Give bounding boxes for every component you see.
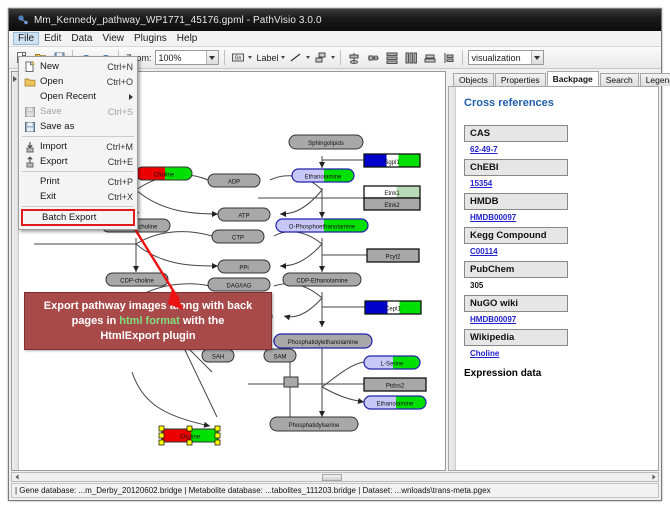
xref-label-chebi: ChEBI (464, 159, 568, 176)
screenshot-root: Mm_Kennedy_pathway_WP1771_45176.gpml - P… (0, 0, 670, 509)
file-menu-accel-open: Ctrl+O (107, 77, 133, 87)
blank-icon-batch (25, 211, 38, 224)
xref-value-chebi: 15354 (464, 176, 650, 188)
order-icon[interactable] (441, 50, 457, 66)
scrollbar-thumb[interactable] (322, 474, 342, 481)
chevron-down-icon[interactable] (206, 51, 218, 64)
file-menu-item-save: Save Ctrl+S (19, 104, 137, 119)
xref-label-pubchem: PubChem (464, 261, 568, 278)
menu-data[interactable]: Data (66, 32, 97, 45)
chevron-right-icon (129, 94, 133, 100)
xref-label-hmdb: HMDB (464, 193, 568, 210)
pathvisio-icon (16, 14, 29, 27)
expression-data-title: Expression data (464, 368, 650, 379)
label-tool[interactable]: Label (255, 53, 285, 63)
xref-value-pubchem: 305 (464, 278, 650, 290)
svg-text:Choline: Choline (180, 435, 201, 441)
annotation-callout: Export pathway images along with back pa… (24, 292, 272, 350)
stack-icon[interactable] (422, 50, 438, 66)
backpage-content: Cross references CAS 62-49-7 ChEBI 15354… (456, 87, 658, 470)
blank-icon-exit (23, 190, 36, 203)
statusbar-wrap: | Gene database: ...m_Derby_20120602.bri… (9, 471, 661, 500)
xref-label-cas: CAS (464, 125, 568, 142)
svg-text:Sphingolipids: Sphingolipids (308, 141, 344, 147)
svg-text:CDP-Ethanolamine: CDP-Ethanolamine (296, 279, 348, 285)
distribute-horizontal-icon[interactable] (403, 50, 419, 66)
blank-icon (23, 90, 36, 103)
file-menu-accel-exit: Ctrl+X (108, 192, 133, 202)
visualization-combo[interactable]: visualization (468, 50, 544, 65)
svg-text:L-Serine: L-Serine (381, 362, 404, 368)
svg-text:PPi: PPi (239, 266, 248, 272)
cross-references-title: Cross references (464, 97, 650, 109)
gpml-icon[interactable]: Gn (230, 50, 246, 66)
svg-text:Etnk2: Etnk2 (384, 203, 400, 209)
file-menu-accel-print: Ctrl+P (108, 177, 133, 187)
menu-help[interactable]: Help (172, 32, 203, 45)
file-menu-label-save-as: Save as (40, 121, 127, 132)
callout-line-2: pages in html format with the (72, 314, 225, 329)
chevron-down-icon-visualization[interactable] (531, 51, 543, 64)
file-menu-label-exit: Exit (40, 191, 102, 202)
xref-label-nugo: NuGO wiki (464, 295, 568, 312)
file-menu-label-open-recent: Open Recent (40, 91, 125, 102)
menu-file[interactable]: File (13, 32, 39, 45)
xref-link-wikipedia[interactable]: Choline (470, 349, 499, 358)
file-menu-item-new[interactable]: New Ctrl+N (19, 59, 137, 74)
tab-properties[interactable]: Properties (495, 73, 546, 86)
file-menu-item-exit[interactable]: Exit Ctrl+X (19, 189, 137, 204)
svg-text:SAM: SAM (273, 355, 286, 361)
save-disk-icon (23, 105, 36, 118)
file-menu-item-export[interactable]: Export Ctrl+E (19, 154, 137, 169)
svg-text:CTP: CTP (232, 236, 244, 242)
file-menu-label-print: Print (40, 176, 102, 187)
toolbar-divider-5 (462, 50, 463, 65)
import-icon (23, 140, 36, 153)
zoom-combo[interactable]: 100% (155, 50, 219, 65)
xref-pubchem: PubChem 305 (464, 261, 650, 290)
file-menu-accel-import: Ctrl+M (106, 142, 133, 152)
callout-line-1: Export pathway images along with back (44, 299, 252, 314)
xref-link-nugo[interactable]: HMDB00097 (470, 315, 516, 324)
scroll-right-icon[interactable] (649, 473, 658, 481)
sidebar-tabstrip: Objects Properties Backpage Search Legen… (448, 71, 659, 86)
file-menu-label-save: Save (40, 106, 102, 117)
menu-bar: File Edit Data View Plugins Help (9, 31, 661, 47)
xref-wikipedia: Wikipedia Choline (464, 329, 650, 358)
file-menu-accel-save: Ctrl+S (108, 107, 133, 117)
chevron-down-icon-label[interactable] (281, 56, 285, 59)
blank-icon-print (23, 175, 36, 188)
pathvisio-window: Mm_Kennedy_pathway_WP1771_45176.gpml - P… (8, 8, 662, 501)
file-menu-item-batch-export[interactable]: Batch Export (21, 209, 135, 226)
line-icon[interactable] (288, 50, 304, 66)
open-folder-icon (23, 75, 36, 88)
svg-text:ATP: ATP (238, 214, 249, 220)
svg-text:CDP-choline: CDP-choline (120, 279, 154, 285)
svg-text:O-Phosphoethanolamine: O-Phosphoethanolamine (289, 225, 356, 231)
file-menu-label-batch-export: Batch Export (42, 212, 131, 223)
svg-text:SAH: SAH (212, 355, 224, 361)
xref-value-wikipedia: Choline (464, 346, 650, 358)
svg-text:Phosphatidylserine: Phosphatidylserine (289, 423, 340, 429)
backpage-panel: Cross references CAS 62-49-7 ChEBI 15354… (448, 86, 659, 471)
horizontal-scrollbar[interactable] (11, 472, 659, 482)
window-title: Mm_Kennedy_pathway_WP1771_45176.gpml - P… (34, 15, 322, 26)
file-menu-separator-3 (22, 206, 134, 207)
file-menu-label-open: Open (40, 76, 101, 87)
menu-edit[interactable]: Edit (39, 32, 66, 45)
tab-objects[interactable]: Objects (453, 73, 494, 86)
file-menu-separator-2 (22, 171, 134, 172)
file-menu-label-export: Export (40, 156, 102, 167)
gpml-tool[interactable]: Gn (230, 50, 252, 66)
file-menu-separator-1 (22, 136, 134, 137)
xref-nugo: NuGO wiki HMDB00097 (464, 295, 650, 324)
align-middle-icon[interactable] (365, 50, 381, 66)
menu-view[interactable]: View (97, 32, 129, 45)
distribute-vertical-icon[interactable] (384, 50, 400, 66)
svg-text:Choline: Choline (154, 173, 175, 179)
toolbar-divider-3 (224, 50, 225, 65)
file-menu-label-import: Import (40, 141, 100, 152)
toolbar-divider-4 (340, 50, 341, 65)
xref-value-hmdb: HMDB00097 (464, 210, 650, 222)
status-bar: | Gene database: ...m_Derby_20120602.bri… (11, 483, 659, 498)
svg-text:DAG/IAG: DAG/IAG (226, 284, 251, 290)
file-menu-item-print[interactable]: Print Ctrl+P (19, 174, 137, 189)
svg-text:Pcyt2: Pcyt2 (385, 255, 401, 261)
save-as-icon (23, 120, 36, 133)
xref-cas: CAS 62-49-7 (464, 125, 650, 154)
zoom-value: 100% (159, 53, 182, 63)
xref-hmdb: HMDB HMDB00097 (464, 193, 650, 222)
svg-text:Sgpl1: Sgpl1 (384, 160, 400, 166)
new-document-icon (23, 60, 36, 73)
file-menu-item-import[interactable]: Import Ctrl+M (19, 139, 137, 154)
file-menu-accel-export: Ctrl+E (108, 157, 133, 167)
sidebar-gutter (449, 87, 456, 470)
interaction-icon[interactable] (313, 50, 329, 66)
svg-text:Phosphatidylethanolamine: Phosphatidylethanolamine (288, 340, 359, 346)
export-icon (23, 155, 36, 168)
chevron-down-icon-line[interactable] (306, 56, 310, 59)
xref-link-cas[interactable]: 62-49-7 (470, 145, 498, 154)
svg-text:Ethanolamine: Ethanolamine (377, 402, 414, 408)
svg-text:Gn: Gn (234, 55, 241, 61)
xref-value-nugo: HMDB00097 (464, 312, 650, 324)
xref-link-hmdb[interactable]: HMDB00097 (470, 213, 516, 222)
chevron-down-icon-gpml[interactable] (248, 56, 252, 59)
svg-text:Cept1: Cept1 (385, 307, 402, 313)
callout-line-2-a: pages in (72, 315, 120, 327)
file-menu-item-open-recent[interactable]: Open Recent (19, 89, 137, 104)
interaction-tool[interactable] (313, 50, 335, 66)
title-bar: Mm_Kennedy_pathway_WP1771_45176.gpml - P… (9, 9, 661, 31)
xref-value-cas: 62-49-7 (464, 142, 650, 154)
svg-text:Etnk1: Etnk1 (384, 191, 400, 197)
file-menu-accel-new: Ctrl+N (107, 62, 133, 72)
label-button-text: Label (257, 53, 279, 63)
chevron-down-icon-interaction[interactable] (331, 56, 335, 59)
xref-link-chebi[interactable]: 15354 (470, 179, 492, 188)
callout-highlight: html format (119, 315, 180, 327)
xref-label-kegg: Kegg Compound (464, 227, 568, 244)
menu-plugins[interactable]: Plugins (129, 32, 172, 45)
status-bar-text: | Gene database: ...m_Derby_20120602.bri… (15, 486, 491, 495)
visualization-value: visualization (472, 53, 521, 63)
callout-line-2-b: with the (180, 315, 225, 327)
file-menu-dropdown[interactable]: New Ctrl+N Open Ctrl+O Open Recent Save (18, 56, 138, 230)
file-menu-item-open[interactable]: Open Ctrl+O (19, 74, 137, 89)
tab-search[interactable]: Search (600, 73, 639, 86)
scroll-left-icon[interactable] (12, 473, 21, 481)
xref-label-wikipedia: Wikipedia (464, 329, 568, 346)
xref-value-kegg: C00114 (464, 244, 650, 256)
svg-text:Ethanolamine: Ethanolamine (305, 175, 342, 181)
xref-link-kegg[interactable]: C00114 (470, 247, 498, 256)
tab-legend[interactable]: Legend (640, 73, 670, 86)
callout-line-3: HtmlExport plugin (100, 329, 195, 344)
tab-backpage[interactable]: Backpage (547, 71, 599, 86)
svg-text:Ptdss2: Ptdss2 (386, 384, 405, 390)
file-menu-item-save-as[interactable]: Save as (19, 119, 137, 134)
xref-kegg: Kegg Compound C00114 (464, 227, 650, 256)
right-sidebar: Objects Properties Backpage Search Legen… (448, 71, 659, 471)
line-tool[interactable] (288, 50, 310, 66)
align-center-icon[interactable] (346, 50, 362, 66)
file-menu-label-new: New (40, 61, 101, 72)
xref-chebi: ChEBI 15354 (464, 159, 650, 188)
svg-text:ADP: ADP (228, 180, 240, 186)
